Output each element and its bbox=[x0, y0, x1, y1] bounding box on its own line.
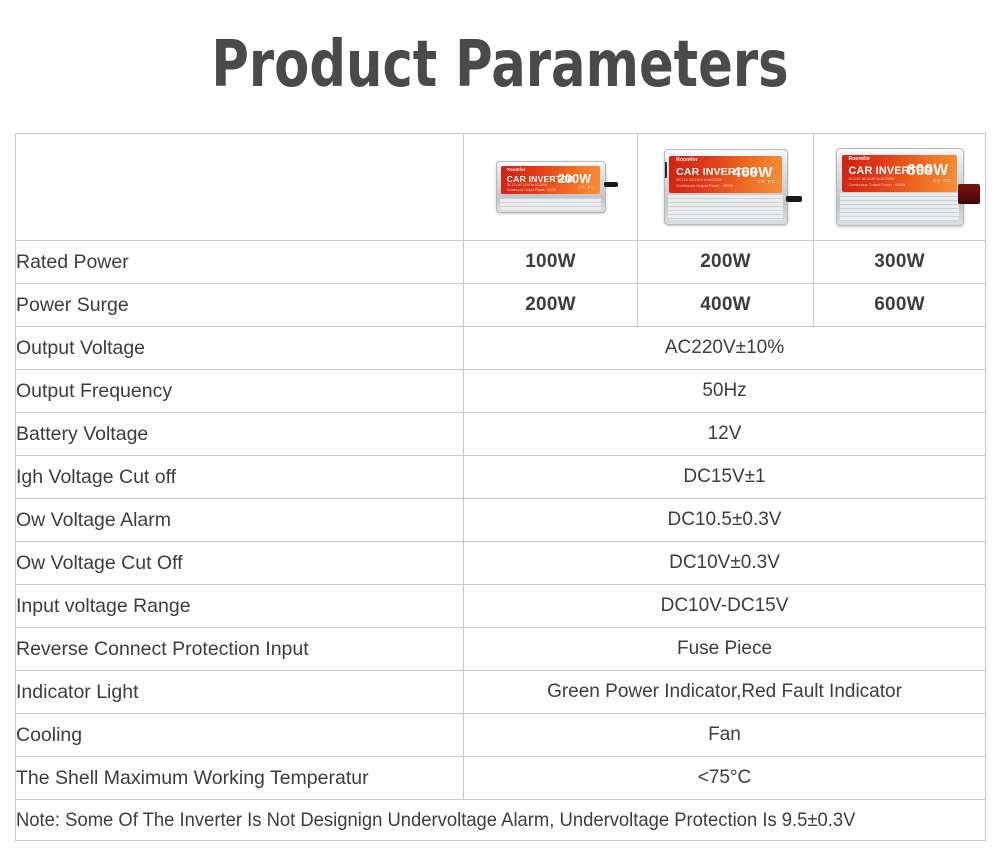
inverter-illustration-600w: Roomfor CAR INVERTER 600W DC12V AC110V t… bbox=[836, 148, 964, 226]
row-label-low-voltage-cut-off: Ow Voltage Cut Off bbox=[16, 542, 464, 585]
inverter-watt-text: 200W bbox=[558, 173, 591, 186]
row-label-power-surge: Power Surge bbox=[16, 284, 464, 327]
value-power-surge-600w: 600W bbox=[814, 284, 986, 327]
value-output-voltage: AC220V±10% bbox=[464, 327, 986, 370]
value-low-voltage-cut-off: DC10V±0.3V bbox=[464, 542, 986, 585]
product-image-600w: Roomfor CAR INVERTER 600W DC12V AC110V t… bbox=[814, 135, 985, 239]
product-image-row: Roomfor CAR INVERTER 200W DC12V AC110V t… bbox=[16, 134, 986, 241]
table-row: Output Voltage AC220V±10% bbox=[16, 327, 986, 370]
inverter-sub-line1: DC12V AC110V to AC220V bbox=[848, 177, 894, 182]
inverter-label: Roomfor CAR INVERTER 400W DC12V AC110V t… bbox=[669, 156, 781, 193]
value-rated-power-400w: 200W bbox=[638, 241, 814, 284]
row-label-cooling: Cooling bbox=[16, 714, 464, 757]
inverter-body: Roomfor CAR INVERTER 200W DC12V AC110V t… bbox=[496, 161, 606, 213]
table-row: Cooling Fan bbox=[16, 714, 986, 757]
value-rated-power-600w: 300W bbox=[814, 241, 986, 284]
certification-marks: CE FC bbox=[757, 180, 776, 185]
table-note-row: Note: Some Of The Inverter Is Not Design… bbox=[16, 800, 986, 841]
row-label-reverse-connect-protection: Reverse Connect Protection Input bbox=[16, 628, 464, 671]
inverter-illustration-400w: Roomfor CAR INVERTER 400W DC12V AC110V t… bbox=[664, 149, 788, 225]
inverter-brand-text: Roomfor bbox=[848, 157, 870, 162]
value-output-frequency: 50Hz bbox=[464, 370, 986, 413]
page-title: Product Parameters bbox=[100, 0, 900, 97]
product-cell-400w: Roomfor CAR INVERTER 400W DC12V AC110V t… bbox=[638, 134, 814, 241]
row-label-output-frequency: Output Frequency bbox=[16, 370, 464, 413]
row-label-indicator-light: Indicator Light bbox=[16, 671, 464, 714]
certification-marks: CE FC bbox=[933, 179, 952, 184]
product-image-400w: Roomfor CAR INVERTER 400W DC12V AC110V t… bbox=[638, 135, 813, 239]
row-label-battery-voltage: Battery Voltage bbox=[16, 413, 464, 456]
value-battery-voltage: 12V bbox=[464, 413, 986, 456]
inverter-sub-line1: DC12V AC110V to AC220V bbox=[676, 178, 722, 183]
value-high-voltage-cut-off: DC15V±1 bbox=[464, 456, 986, 499]
product-cell-200w: Roomfor CAR INVERTER 200W DC12V AC110V t… bbox=[464, 134, 638, 241]
table-row: Output Frequency 50Hz bbox=[16, 370, 986, 413]
inverter-watt-text: 600W bbox=[907, 163, 948, 179]
value-cooling: Fan bbox=[464, 714, 986, 757]
inverter-power-cable bbox=[604, 182, 618, 187]
row-label-rated-power: Rated Power bbox=[16, 241, 464, 284]
table-row: Rated Power 100W 200W 300W bbox=[16, 241, 986, 284]
value-rated-power-200w: 100W bbox=[464, 241, 638, 284]
inverter-brand-text: Roomfor bbox=[507, 168, 526, 173]
inverter-label: Roomfor CAR INVERTER 600W DC12V AC110V t… bbox=[842, 155, 958, 191]
row-label-low-voltage-alarm: Ow Voltage Alarm bbox=[16, 499, 464, 542]
inverter-watt-text: 400W bbox=[733, 165, 773, 180]
inverter-sub-line2: Continuous Output Power : 200W bbox=[507, 188, 556, 192]
value-input-voltage-range: DC10V-DC15V bbox=[464, 585, 986, 628]
inverter-sub-line2: Continuous Output Power : 600W bbox=[848, 183, 905, 188]
note-cell: Note: Some Of The Inverter Is Not Design… bbox=[16, 800, 986, 841]
inverter-body: Roomfor CAR INVERTER 600W DC12V AC110V t… bbox=[836, 148, 964, 226]
table-row: Reverse Connect Protection Input Fuse Pi… bbox=[16, 628, 986, 671]
inverter-plug-block bbox=[958, 184, 980, 204]
table-row: The Shell Maximum Working Temperatur <75… bbox=[16, 757, 986, 800]
note-text: Note: Some Of The Inverter Is Not Design… bbox=[16, 809, 855, 832]
inverter-cooling-fins bbox=[668, 194, 783, 221]
inverter-side-port bbox=[664, 162, 667, 178]
row-label-output-voltage: Output Voltage bbox=[16, 327, 464, 370]
inverter-cooling-fins bbox=[500, 198, 602, 210]
value-low-voltage-alarm: DC10.5±0.3V bbox=[464, 499, 986, 542]
inverter-sub-line2: Continuous Output Power : 400W bbox=[676, 184, 733, 189]
value-indicator-light: Green Power Indicator,Red Fault Indicato… bbox=[464, 671, 986, 714]
product-image-200w: Roomfor CAR INVERTER 200W DC12V AC110V t… bbox=[464, 135, 637, 239]
spec-table-wrapper: Roomfor CAR INVERTER 200W DC12V AC110V t… bbox=[15, 133, 985, 841]
value-power-surge-200w: 200W bbox=[464, 284, 638, 327]
row-label-input-voltage-range: Input voltage Range bbox=[16, 585, 464, 628]
table-row: Ow Voltage Alarm DC10.5±0.3V bbox=[16, 499, 986, 542]
inverter-body: Roomfor CAR INVERTER 400W DC12V AC110V t… bbox=[664, 149, 788, 225]
inverter-illustration-200w: Roomfor CAR INVERTER 200W DC12V AC110V t… bbox=[496, 161, 606, 213]
table-row: Ow Voltage Cut Off DC10V±0.3V bbox=[16, 542, 986, 585]
header-empty-cell bbox=[16, 134, 464, 241]
table-row: Battery Voltage 12V bbox=[16, 413, 986, 456]
value-power-surge-400w: 400W bbox=[638, 284, 814, 327]
inverter-brand-text: Roomfor bbox=[676, 158, 698, 163]
table-body: Roomfor CAR INVERTER 200W DC12V AC110V t… bbox=[16, 134, 986, 841]
table-row: Indicator Light Green Power Indicator,Re… bbox=[16, 671, 986, 714]
inverter-cooling-fins bbox=[840, 192, 958, 221]
inverter-power-cable bbox=[786, 196, 802, 202]
inverter-label: Roomfor CAR INVERTER 200W DC12V AC110V t… bbox=[501, 166, 600, 194]
value-shell-max-working-temperature: <75°C bbox=[464, 757, 986, 800]
value-reverse-connect-protection: Fuse Piece bbox=[464, 628, 986, 671]
product-parameters-table: Roomfor CAR INVERTER 200W DC12V AC110V t… bbox=[15, 133, 986, 841]
product-cell-600w: Roomfor CAR INVERTER 600W DC12V AC110V t… bbox=[814, 134, 986, 241]
table-row: Igh Voltage Cut off DC15V±1 bbox=[16, 456, 986, 499]
certification-marks: CE FC bbox=[578, 186, 595, 190]
row-label-high-voltage-cut-off: Igh Voltage Cut off bbox=[16, 456, 464, 499]
table-row: Power Surge 200W 400W 600W bbox=[16, 284, 986, 327]
table-row: Input voltage Range DC10V-DC15V bbox=[16, 585, 986, 628]
row-label-shell-max-working-temperature: The Shell Maximum Working Temperatur bbox=[16, 757, 464, 800]
